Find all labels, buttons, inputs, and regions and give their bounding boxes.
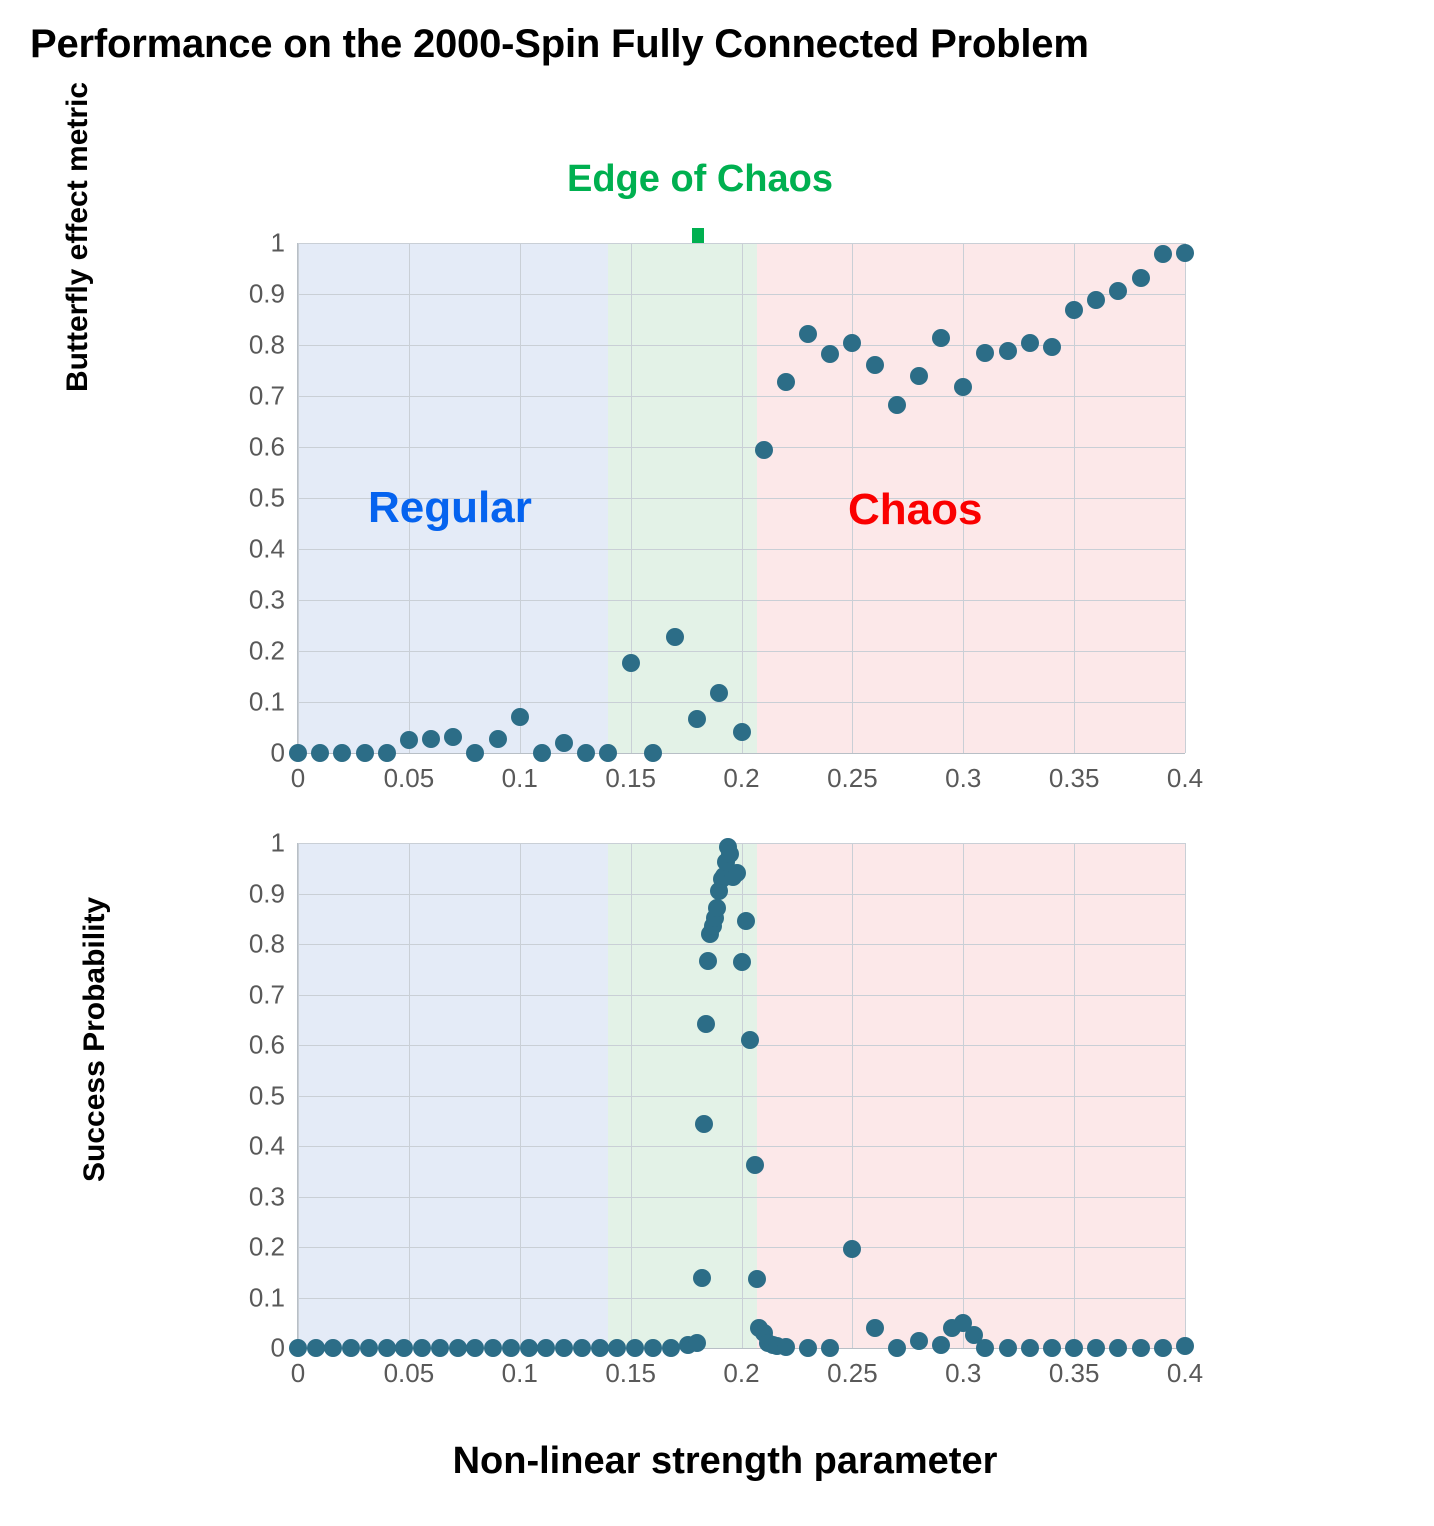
x-axis-ticks-bottom: 00.050.10.150.20.250.30.350.4 xyxy=(298,1358,1185,1398)
data-point xyxy=(537,1339,555,1357)
data-point xyxy=(1043,338,1061,356)
x-tick-label: 0.3 xyxy=(923,1358,1003,1389)
gridline-vertical xyxy=(409,843,410,1348)
data-point xyxy=(1132,1339,1150,1357)
data-point xyxy=(662,1339,680,1357)
data-point xyxy=(484,1339,502,1357)
y-axis-line xyxy=(297,843,298,1348)
data-point xyxy=(1021,1339,1039,1357)
data-point xyxy=(626,1339,644,1357)
data-point xyxy=(910,367,928,385)
y-axis-line xyxy=(297,243,298,753)
y-tick-label: 0.9 xyxy=(215,878,285,909)
data-point xyxy=(599,744,617,762)
data-point xyxy=(688,1334,706,1352)
data-point xyxy=(755,441,773,459)
y-tick-label: 0.9 xyxy=(215,279,285,310)
data-point xyxy=(1176,1337,1194,1355)
data-point xyxy=(693,1269,711,1287)
data-point xyxy=(431,1339,449,1357)
data-point xyxy=(622,654,640,672)
data-point xyxy=(1065,301,1083,319)
y-tick-label: 0.2 xyxy=(215,1232,285,1263)
x-tick-label: 0.35 xyxy=(1034,1358,1114,1389)
data-point xyxy=(311,744,329,762)
data-point xyxy=(289,744,307,762)
data-point xyxy=(520,1339,538,1357)
y-tick-label: 1 xyxy=(215,228,285,259)
y-tick-label: 0.8 xyxy=(215,929,285,960)
x-tick-label: 0.15 xyxy=(591,763,671,794)
data-point xyxy=(976,1339,994,1357)
data-point xyxy=(1065,1339,1083,1357)
regular-region-label: Regular xyxy=(368,483,532,533)
data-point xyxy=(400,731,418,749)
x-tick-label: 0.25 xyxy=(812,1358,892,1389)
data-point xyxy=(728,864,746,882)
gridline-vertical xyxy=(1185,843,1186,1348)
data-point xyxy=(777,1338,795,1356)
data-point xyxy=(976,344,994,362)
data-point xyxy=(821,1339,839,1357)
y-axis-ticks-top: 00.10.20.30.40.50.60.70.80.91 xyxy=(215,243,285,753)
x-tick-label: 0.4 xyxy=(1145,1358,1225,1389)
data-point xyxy=(378,1339,396,1357)
x-tick-label: 0 xyxy=(258,1358,338,1389)
gridline-vertical xyxy=(742,243,743,753)
data-point xyxy=(591,1339,609,1357)
data-point xyxy=(799,1339,817,1357)
y-tick-label: 0.1 xyxy=(215,1282,285,1313)
data-point xyxy=(449,1339,467,1357)
gridline-vertical xyxy=(852,843,853,1348)
data-point xyxy=(395,1339,413,1357)
y-tick-label: 0.1 xyxy=(215,687,285,718)
y-tick-label: 0.4 xyxy=(215,534,285,565)
data-point xyxy=(644,744,662,762)
x-tick-label: 0.1 xyxy=(480,763,560,794)
data-point xyxy=(932,329,950,347)
data-point xyxy=(1132,269,1150,287)
chart-panel-butterfly: 00.10.20.30.40.50.60.70.80.91 00.050.10.… xyxy=(0,230,1434,800)
data-point xyxy=(422,730,440,748)
data-point xyxy=(533,744,551,762)
data-point xyxy=(324,1339,342,1357)
x-tick-label: 0.35 xyxy=(1034,763,1114,794)
data-point xyxy=(466,744,484,762)
data-point xyxy=(1043,1339,1061,1357)
gridline-vertical xyxy=(1074,243,1075,753)
edge-of-chaos-label: Edge of Chaos xyxy=(450,158,950,201)
data-point xyxy=(644,1339,662,1357)
data-point xyxy=(733,723,751,741)
x-tick-label: 0 xyxy=(258,763,338,794)
data-point xyxy=(555,1339,573,1357)
gridline-vertical xyxy=(963,843,964,1348)
y-tick-label: 0.5 xyxy=(215,483,285,514)
y-tick-label: 0.3 xyxy=(215,585,285,616)
gridline-vertical xyxy=(298,843,299,1348)
chart-panel-success: 00.10.20.30.40.50.60.70.80.91 00.050.10.… xyxy=(0,828,1434,1428)
y-tick-label: 0.7 xyxy=(215,979,285,1010)
x-tick-label: 0.15 xyxy=(591,1358,671,1389)
y-tick-label: 0.2 xyxy=(215,636,285,667)
gridline-vertical xyxy=(298,243,299,753)
x-tick-label: 0.1 xyxy=(480,1358,560,1389)
y-tick-label: 0.8 xyxy=(215,330,285,361)
data-point xyxy=(799,325,817,343)
data-point xyxy=(577,744,595,762)
x-axis-ticks-top: 00.050.10.150.20.250.30.350.4 xyxy=(298,763,1185,803)
x-axis-title: Non-linear strength parameter xyxy=(250,1440,1200,1483)
x-tick-label: 0.05 xyxy=(369,763,449,794)
data-point xyxy=(688,710,706,728)
data-point xyxy=(356,744,374,762)
x-tick-label: 0.4 xyxy=(1145,763,1225,794)
y-tick-label: 0.3 xyxy=(215,1181,285,1212)
data-point xyxy=(378,744,396,762)
data-point xyxy=(1087,1339,1105,1357)
data-point xyxy=(1109,1339,1127,1357)
plot-area-bottom xyxy=(298,843,1185,1348)
x-tick-label: 0.2 xyxy=(702,763,782,794)
data-point xyxy=(502,1339,520,1357)
data-point xyxy=(666,628,684,646)
gridline-vertical xyxy=(631,243,632,753)
data-point xyxy=(1154,1339,1172,1357)
data-point xyxy=(733,953,751,971)
data-point xyxy=(888,396,906,414)
y-tick-label: 0.7 xyxy=(215,381,285,412)
chaos-region-label: Chaos xyxy=(848,485,982,535)
data-point xyxy=(746,1156,764,1174)
data-point xyxy=(821,345,839,363)
data-point xyxy=(289,1339,307,1357)
gridline-vertical xyxy=(520,843,521,1348)
gridline-vertical xyxy=(1074,843,1075,1348)
y-axis-ticks-bottom: 00.10.20.30.40.50.60.70.80.91 xyxy=(215,843,285,1348)
data-point xyxy=(511,708,529,726)
data-point xyxy=(1176,244,1194,262)
data-point xyxy=(489,730,507,748)
gridline-vertical xyxy=(1185,243,1186,753)
data-point xyxy=(748,1270,766,1288)
data-point xyxy=(866,356,884,374)
x-tick-label: 0.2 xyxy=(702,1358,782,1389)
page-title: Performance on the 2000-Spin Fully Conne… xyxy=(30,22,1410,67)
y-tick-label: 0.6 xyxy=(215,432,285,463)
x-axis-line xyxy=(298,753,1185,754)
data-point xyxy=(999,1339,1017,1357)
data-point xyxy=(333,744,351,762)
x-tick-label: 0.05 xyxy=(369,1358,449,1389)
data-point xyxy=(413,1339,431,1357)
data-point xyxy=(999,342,1017,360)
data-point xyxy=(1154,245,1172,263)
x-tick-label: 0.25 xyxy=(812,763,892,794)
data-point xyxy=(573,1339,591,1357)
y-tick-label: 1 xyxy=(215,828,285,859)
data-point xyxy=(695,1115,713,1133)
data-point xyxy=(777,373,795,391)
y-tick-label: 0.5 xyxy=(215,1080,285,1111)
data-point xyxy=(466,1339,484,1357)
data-point xyxy=(608,1339,626,1357)
data-point xyxy=(360,1339,378,1357)
gridline-vertical xyxy=(631,843,632,1348)
data-point xyxy=(932,1336,950,1354)
data-point xyxy=(866,1319,884,1337)
data-point xyxy=(307,1339,325,1357)
y-tick-label: 0.6 xyxy=(215,1030,285,1061)
x-tick-label: 0.3 xyxy=(923,763,1003,794)
y-tick-label: 0.4 xyxy=(215,1131,285,1162)
data-point xyxy=(954,378,972,396)
data-point xyxy=(708,899,726,917)
data-point xyxy=(342,1339,360,1357)
data-point xyxy=(888,1339,906,1357)
